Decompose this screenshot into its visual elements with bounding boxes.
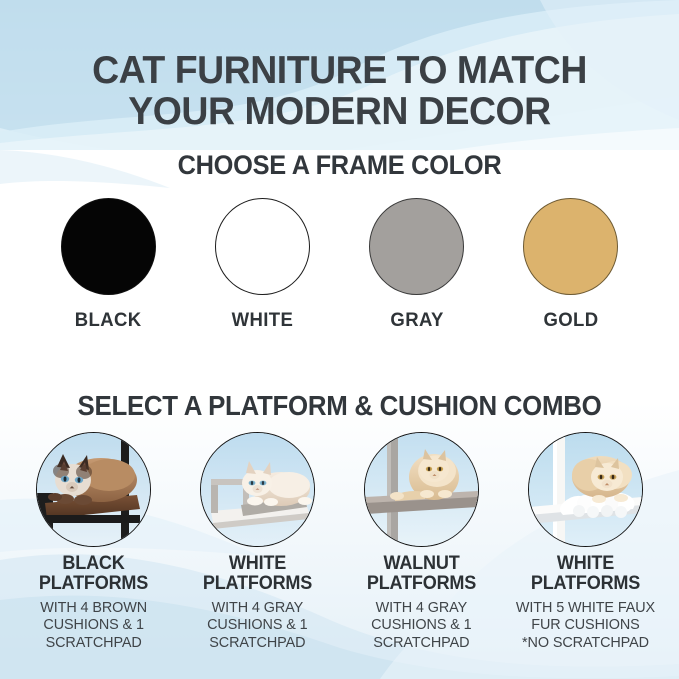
color-swatch-white[interactable]: [215, 198, 310, 295]
photo-golden-cat-faux-fur[interactable]: [528, 432, 643, 547]
combo-detail-3-line1: WITH 4 GRAY: [371, 599, 471, 617]
combo-detail-4-line3: *NO SCRATCHPAD: [516, 634, 655, 652]
combo-title-3-line2: PLATFORMS: [367, 574, 476, 594]
platform-combo-row: BLACK PLATFORMS WITH 4 BROWN CUSHIONS & …: [12, 432, 667, 672]
cat-photo-illustration-4: [529, 433, 642, 546]
frame-color-heading: CHOOSE A FRAME COLOR: [20, 150, 658, 181]
combo-detail-1-line3: SCRATCHPAD: [40, 634, 147, 652]
combo-detail-4: WITH 5 WHITE FAUX FUR CUSHIONS *NO SCRAT…: [516, 599, 655, 652]
combo-detail-3: WITH 4 GRAY CUSHIONS & 1 SCRATCHPAD: [371, 599, 471, 652]
photo-siamese-cat-black-frame[interactable]: [36, 432, 151, 547]
infographic-canvas: CAT FURNITURE TO MATCH YOUR MODERN DECOR…: [0, 0, 679, 679]
combo-detail-2-line3: SCRATCHPAD: [207, 634, 307, 652]
swatch-label-gold: GOLD: [543, 309, 598, 332]
combo-detail-1-line2: CUSHIONS & 1: [40, 616, 147, 634]
content-root: CAT FURNITURE TO MATCH YOUR MODERN DECOR…: [0, 0, 679, 679]
combo-detail-2: WITH 4 GRAY CUSHIONS & 1 SCRATCHPAD: [207, 599, 307, 652]
photo-cream-cat-white-platform[interactable]: [200, 432, 315, 547]
combo-detail-2-line1: WITH 4 GRAY: [207, 599, 307, 617]
combo-detail-1: WITH 4 BROWN CUSHIONS & 1 SCRATCHPAD: [40, 599, 147, 652]
combo-option-walnut-platforms[interactable]: WALNUT PLATFORMS WITH 4 GRAY CUSHIONS & …: [340, 432, 503, 652]
combo-detail-3-line2: CUSHIONS & 1: [371, 616, 471, 634]
title-line-1: CAT FURNITURE TO MATCH: [92, 49, 587, 92]
combo-option-white-platforms-gray[interactable]: WHITE PLATFORMS WITH 4 GRAY CUSHIONS & 1…: [176, 432, 339, 652]
title-line-2: YOUR MODERN DECOR: [14, 91, 666, 132]
combo-option-white-platforms-faux-fur[interactable]: WHITE PLATFORMS WITH 5 WHITE FAUX FUR CU…: [504, 432, 667, 652]
color-swatch-black[interactable]: [61, 198, 156, 295]
combo-detail-2-line2: CUSHIONS & 1: [207, 616, 307, 634]
combo-title-3-line1: WALNUT: [383, 553, 459, 574]
combo-detail-3-line3: SCRATCHPAD: [371, 634, 471, 652]
combo-detail-4-line1: WITH 5 WHITE FAUX: [516, 599, 655, 617]
combo-detail-1-line1: WITH 4 BROWN: [40, 599, 147, 617]
cat-photo-illustration-2: [201, 433, 314, 546]
combo-detail-4-line2: FUR CUSHIONS: [516, 616, 655, 634]
photo-golden-cat-walnut-shelf[interactable]: [364, 432, 479, 547]
combo-title-1: BLACK PLATFORMS: [39, 554, 148, 594]
swatch-option-white[interactable]: WHITE: [192, 198, 332, 332]
combo-title-4-line2: PLATFORMS: [531, 574, 640, 594]
frame-color-swatch-row: BLACK WHITE GRAY GOLD: [38, 198, 641, 348]
combo-title-2-line1: WHITE: [229, 553, 286, 574]
swatch-label-gray: GRAY: [390, 309, 443, 332]
swatch-option-gray[interactable]: GRAY: [347, 198, 487, 332]
cat-photo-illustration-1: [37, 433, 150, 546]
combo-title-1-line2: PLATFORMS: [39, 574, 148, 594]
swatch-label-white: WHITE: [232, 309, 294, 332]
color-swatch-gray[interactable]: [369, 198, 464, 295]
combo-title-1-line1: BLACK: [62, 553, 124, 574]
swatch-option-gold[interactable]: GOLD: [501, 198, 641, 332]
combo-title-2-line2: PLATFORMS: [203, 574, 312, 594]
combo-title-4-line1: WHITE: [557, 553, 614, 574]
color-swatch-gold[interactable]: [523, 198, 618, 295]
page-title: CAT FURNITURE TO MATCH YOUR MODERN DECOR: [14, 50, 666, 133]
combo-title-3: WALNUT PLATFORMS: [367, 554, 476, 594]
combo-title-4: WHITE PLATFORMS: [531, 554, 640, 594]
cat-photo-illustration-3: [365, 433, 478, 546]
swatch-label-black: BLACK: [75, 309, 142, 332]
combo-heading: SELECT A PLATFORM & CUSHION COMBO: [20, 390, 658, 422]
combo-title-2: WHITE PLATFORMS: [203, 554, 312, 594]
swatch-option-black[interactable]: BLACK: [38, 198, 178, 332]
combo-option-black-platforms[interactable]: BLACK PLATFORMS WITH 4 BROWN CUSHIONS & …: [12, 432, 175, 652]
